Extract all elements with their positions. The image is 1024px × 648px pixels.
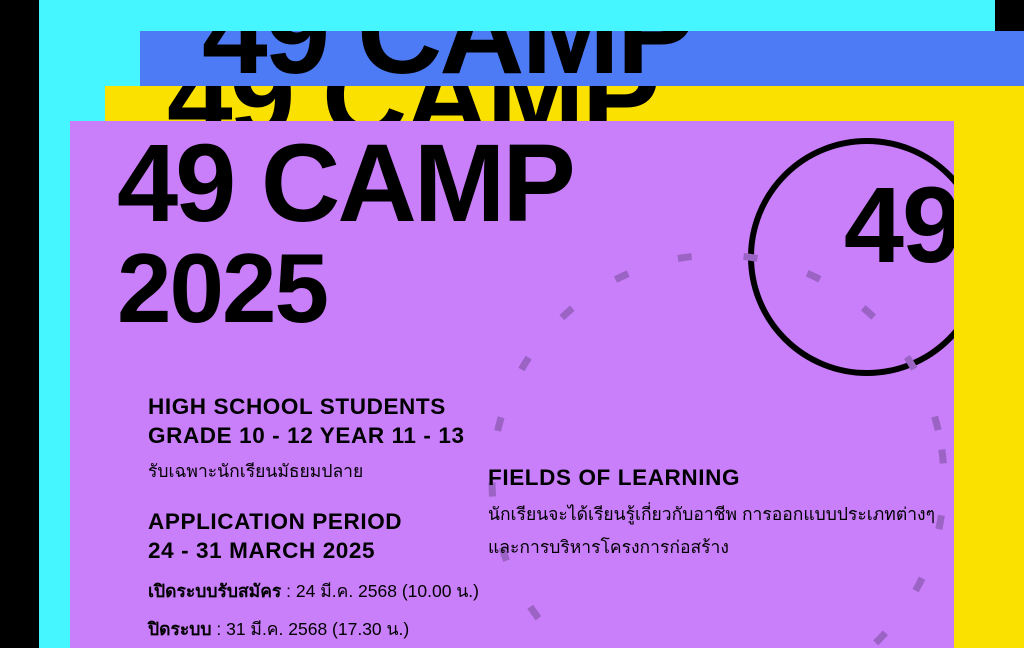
ghost-headline-blue: 49 CAMP	[202, 31, 692, 84]
page-title-line1: 49 CAMP	[117, 137, 573, 232]
purple-card-layer: 49 CAMP 2025 49 HIGH SCHOOL STUDENTS GRA…	[70, 121, 954, 648]
badge-number: 49	[812, 171, 954, 279]
poster-canvas: 49 CAMP 49 CAMP 49 CAMP 2025 49 HIGH SCH…	[0, 0, 1024, 648]
students-info-block: HIGH SCHOOL STUDENTS GRADE 10 - 12 YEAR …	[148, 393, 465, 483]
page-title-line2: 2025	[117, 246, 327, 330]
application-heading-line2: 24 - 31 MARCH 2025	[148, 537, 479, 566]
application-close-label: ปิดระบบ	[148, 619, 212, 639]
fields-heading: FIELDS OF LEARNING	[488, 464, 935, 493]
students-heading-line1: HIGH SCHOOL STUDENTS	[148, 393, 465, 422]
fields-thai-line2: และการบริหารโครงการก่อสร้าง	[488, 536, 935, 559]
application-heading-line1: APPLICATION PERIOD	[148, 508, 479, 537]
fields-thai-line1: นักเรียนจะได้เรียนรู้เกี่ยวกับอาชีพ การอ…	[488, 503, 935, 526]
application-open-label: เปิดระบบรับสมัคร	[148, 581, 281, 601]
students-heading-line2: GRADE 10 - 12 YEAR 11 - 13	[148, 422, 465, 451]
application-info-block: APPLICATION PERIOD 24 - 31 MARCH 2025 เป…	[148, 508, 479, 642]
application-open-value: : 24 มี.ค. 2568 (10.00 น.)	[281, 581, 479, 601]
application-open-line: เปิดระบบรับสมัคร : 24 มี.ค. 2568 (10.00 …	[148, 578, 479, 604]
fields-info-block: FIELDS OF LEARNING นักเรียนจะได้เรียนรู้…	[488, 464, 935, 559]
application-close-value: : 31 มี.ค. 2568 (17.30 น.)	[212, 619, 410, 639]
students-thai-note: รับเฉพาะนักเรียนมัธยมปลาย	[148, 460, 465, 483]
application-close-line: ปิดระบบ : 31 มี.ค. 2568 (17.30 น.)	[148, 616, 479, 642]
